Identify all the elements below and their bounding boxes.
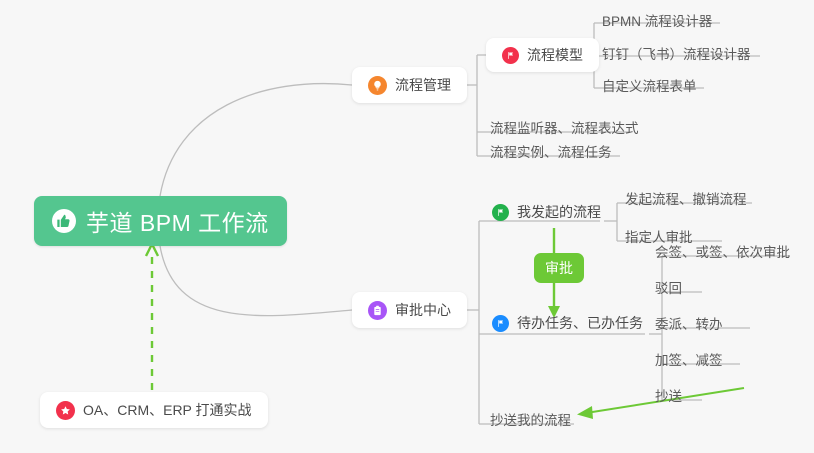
mindmap-canvas: 芋道 BPM 工作流 流程管理 流程模型 BPMN 流程设计器 钉钉（飞书）流程… bbox=[0, 0, 814, 453]
label-process-model: 流程模型 bbox=[527, 45, 583, 65]
leaf-process-instance-task[interactable]: 流程实例、流程任务 bbox=[490, 136, 612, 162]
leaf-label-process-instance-task: 流程实例、流程任务 bbox=[490, 146, 612, 160]
leaf-label-custom-process-form: 自定义流程表单 bbox=[602, 80, 697, 94]
connector-root-to-approval-center bbox=[160, 246, 352, 316]
flag-icon bbox=[492, 204, 509, 221]
thumbs-up-icon bbox=[52, 209, 76, 233]
label-todo-done-task: 待办任务、已办任务 bbox=[517, 313, 643, 333]
node-process-model[interactable]: 流程模型 bbox=[486, 38, 599, 72]
leaf-label-delegate-transfer: 委派、转办 bbox=[655, 318, 723, 332]
leaf-label-reject: 驳回 bbox=[655, 282, 682, 296]
approval-tag-label: 审批 bbox=[545, 258, 573, 278]
leaf-start-cancel-process[interactable]: 发起流程、撤销流程 bbox=[625, 183, 747, 209]
connector-root-to-process-management bbox=[160, 84, 352, 196]
star-icon bbox=[56, 401, 75, 420]
branch-label-approval-center: 审批中心 bbox=[395, 300, 451, 320]
leaf-reject[interactable]: 驳回 bbox=[655, 272, 682, 298]
root-label: 芋道 BPM 工作流 bbox=[86, 204, 269, 238]
node-my-initiated-process[interactable]: 我发起的流程 bbox=[492, 201, 601, 223]
flag-icon bbox=[502, 47, 519, 64]
clipboard-icon bbox=[368, 301, 387, 320]
leaf-label-process-listener-expression: 流程监听器、流程表达式 bbox=[490, 122, 639, 136]
leaf-process-listener-expression[interactable]: 流程监听器、流程表达式 bbox=[490, 112, 639, 138]
leaf-label-start-cancel-process: 发起流程、撤销流程 bbox=[625, 193, 747, 207]
leaf-custom-process-form[interactable]: 自定义流程表单 bbox=[602, 70, 697, 96]
leaf-label-cc: 抄送 bbox=[655, 390, 682, 404]
node-todo-done-task[interactable]: 待办任务、已办任务 bbox=[492, 312, 643, 334]
integration-note-node[interactable]: OA、CRM、ERP 打通实战 bbox=[40, 392, 268, 428]
integration-note-label: OA、CRM、ERP 打通实战 bbox=[83, 400, 252, 420]
lightbulb-icon bbox=[368, 76, 387, 95]
leaf-label-dingtalk-feishu-designer: 钉钉（飞书）流程设计器 bbox=[602, 48, 751, 62]
leaf-delegate-transfer[interactable]: 委派、转办 bbox=[655, 308, 723, 334]
cc-link-arrow-head bbox=[577, 406, 593, 419]
approval-tag[interactable]: 审批 bbox=[534, 253, 584, 283]
leaf-label-add-remove-sign: 加签、减签 bbox=[655, 354, 723, 368]
flag-icon bbox=[492, 315, 509, 332]
leaf-multi-sign[interactable]: 会签、或签、依次审批 bbox=[655, 236, 790, 262]
branch-node-process-management[interactable]: 流程管理 bbox=[352, 67, 467, 103]
leaf-label-bpmn-designer: BPMN 流程设计器 bbox=[602, 15, 712, 29]
label-my-initiated-process: 我发起的流程 bbox=[517, 202, 601, 222]
leaf-dingtalk-feishu-designer[interactable]: 钉钉（飞书）流程设计器 bbox=[602, 38, 751, 64]
root-node[interactable]: 芋道 BPM 工作流 bbox=[34, 196, 287, 246]
leaf-add-remove-sign[interactable]: 加签、减签 bbox=[655, 344, 723, 370]
branch-label-process-management: 流程管理 bbox=[395, 75, 451, 95]
leaf-cc[interactable]: 抄送 bbox=[655, 380, 682, 406]
leaf-label-multi-sign: 会签、或签、依次审批 bbox=[655, 246, 790, 260]
leaf-label-cc-to-me-process: 抄送我的流程 bbox=[490, 414, 571, 428]
leaf-cc-to-me-process[interactable]: 抄送我的流程 bbox=[490, 404, 571, 430]
branch-node-approval-center[interactable]: 审批中心 bbox=[352, 292, 467, 328]
leaf-bpmn-designer[interactable]: BPMN 流程设计器 bbox=[602, 5, 712, 31]
